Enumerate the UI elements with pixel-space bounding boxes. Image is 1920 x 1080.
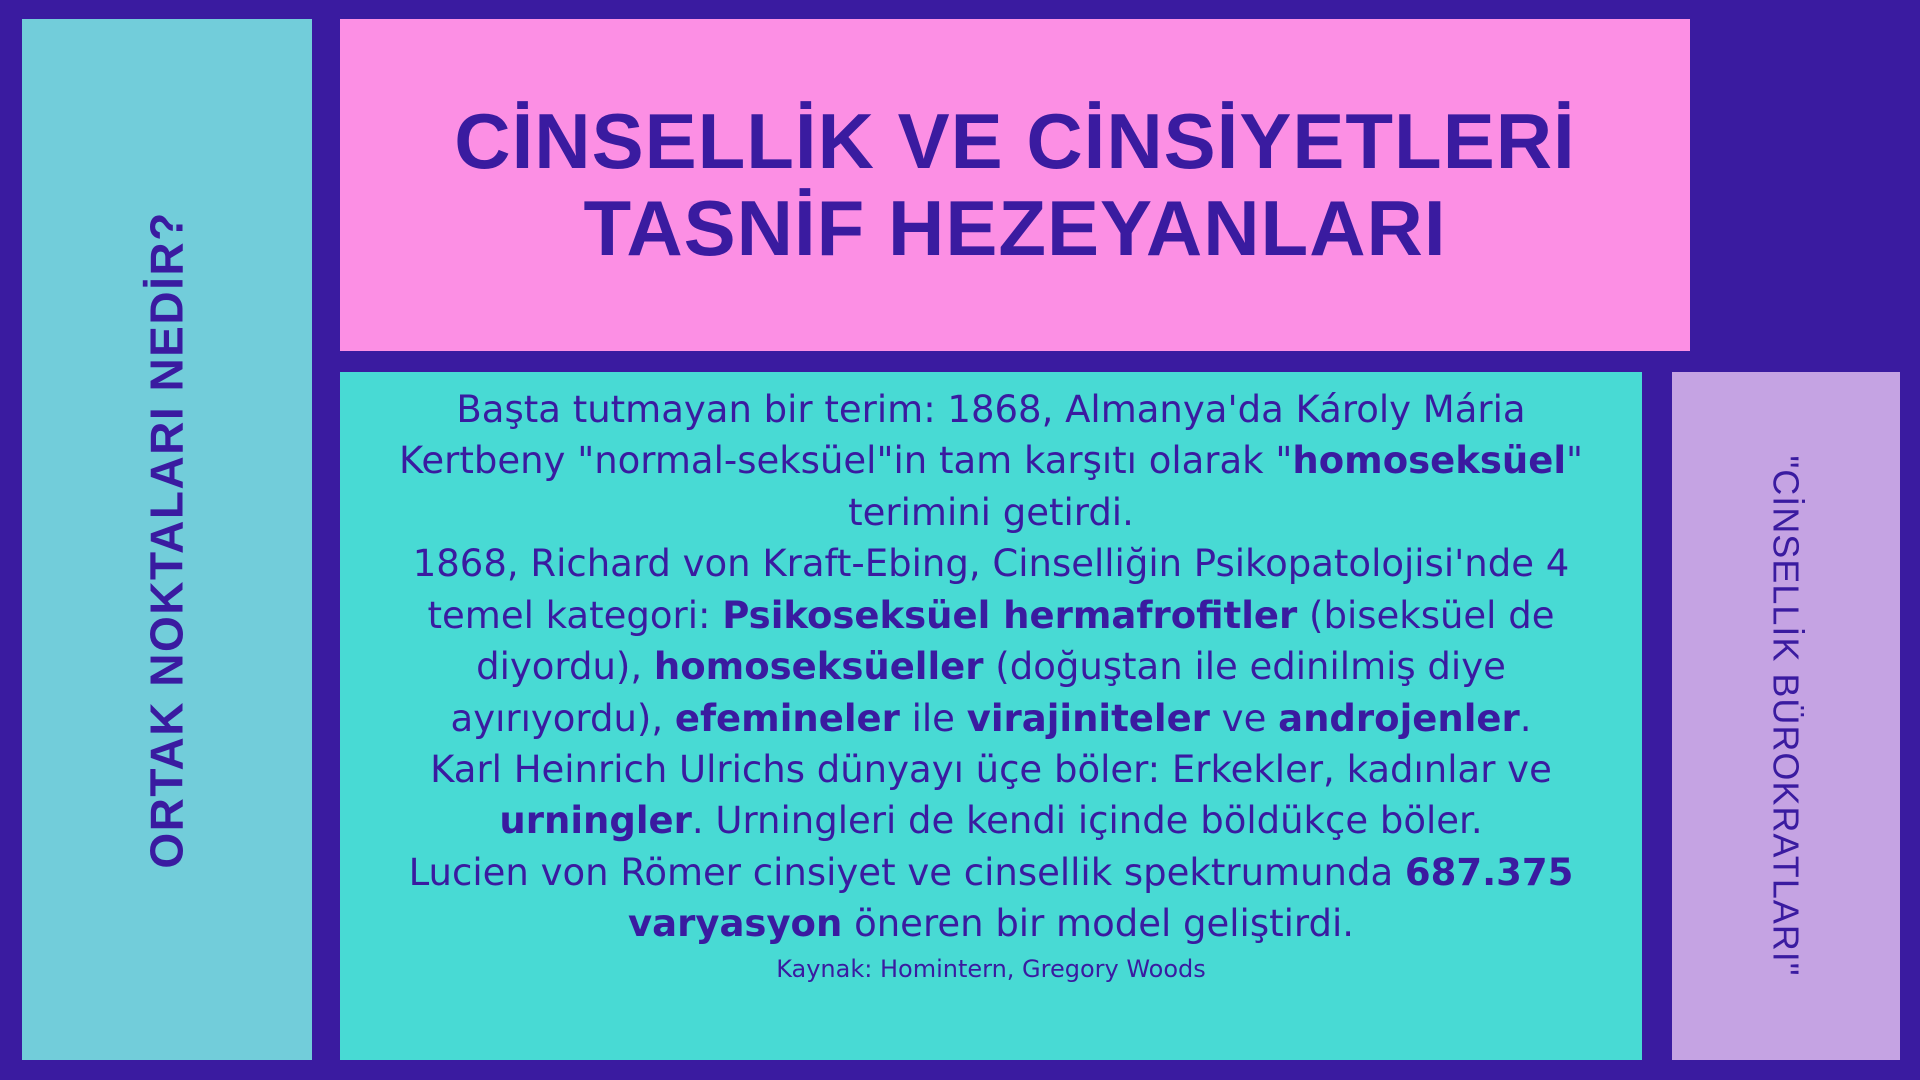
p3-part-2: . Urningleri de kendi içinde böldükçe bö… <box>692 799 1483 842</box>
body-paragraph-1: Başta tutmayan bir terim: 1868, Almanya'… <box>368 384 1614 538</box>
right-vertical-panel: "CİNSELLİK BÜROKRATLARI" <box>1672 372 1900 1060</box>
left-vertical-panel: ORTAK NOKTALARI NEDİR? <box>22 19 312 1060</box>
body-paragraph-2: 1868, Richard von Kraft-Ebing, Cinselliğ… <box>368 538 1614 744</box>
p2-part-6: . <box>1520 697 1532 740</box>
p2-bold-psikoseksuel-hermafrofitler: Psikoseksüel hermafrofitler <box>722 594 1297 637</box>
p2-bold-virajiniteler: virajiniteler <box>967 697 1210 740</box>
p4-part-1: Lucien von Römer cinsiyet ve cinsellik s… <box>409 851 1405 894</box>
title-banner: CİNSELLİK VE CİNSİYETLERİ TASNİF HEZEYAN… <box>340 19 1690 351</box>
p2-bold-homoseksueller: homoseksüeller <box>654 645 984 688</box>
body-paragraph-4: Lucien von Römer cinsiyet ve cinsellik s… <box>368 847 1614 950</box>
p3-bold-urningler: urningler <box>499 799 691 842</box>
slide-root: ORTAK NOKTALARI NEDİR? CİNSELLİK VE CİNS… <box>0 0 1920 1080</box>
title-line-2: TASNİF HEZEYANLARI <box>454 185 1575 272</box>
right-panel-label: "CİNSELLİK BÜROKRATLARI" <box>1765 455 1807 976</box>
p2-bold-androjenler: androjenler <box>1278 697 1520 740</box>
p2-bold-efemineler: efemineler <box>675 697 900 740</box>
p2-part-4: ile <box>900 697 967 740</box>
p1-bold-homoseksuel: homoseksüel <box>1292 439 1566 482</box>
p2-part-5: ve <box>1210 697 1278 740</box>
p4-part-2: öneren bir model geliştirdi. <box>842 902 1354 945</box>
left-panel-label: ORTAK NOKTALARI NEDİR? <box>140 211 194 868</box>
body-text-block: Başta tutmayan bir terim: 1868, Almanya'… <box>368 384 1614 950</box>
source-citation: Kaynak: Homintern, Gregory Woods <box>368 954 1614 984</box>
body-content-panel: Başta tutmayan bir terim: 1868, Almanya'… <box>340 372 1642 1060</box>
title-line-1: CİNSELLİK VE CİNSİYETLERİ <box>454 98 1575 185</box>
page-title: CİNSELLİK VE CİNSİYETLERİ TASNİF HEZEYAN… <box>454 98 1575 273</box>
p3-part-1: Karl Heinrich Ulrichs dünyayı üçe böler:… <box>430 748 1552 791</box>
body-paragraph-3: Karl Heinrich Ulrichs dünyayı üçe böler:… <box>368 744 1614 847</box>
